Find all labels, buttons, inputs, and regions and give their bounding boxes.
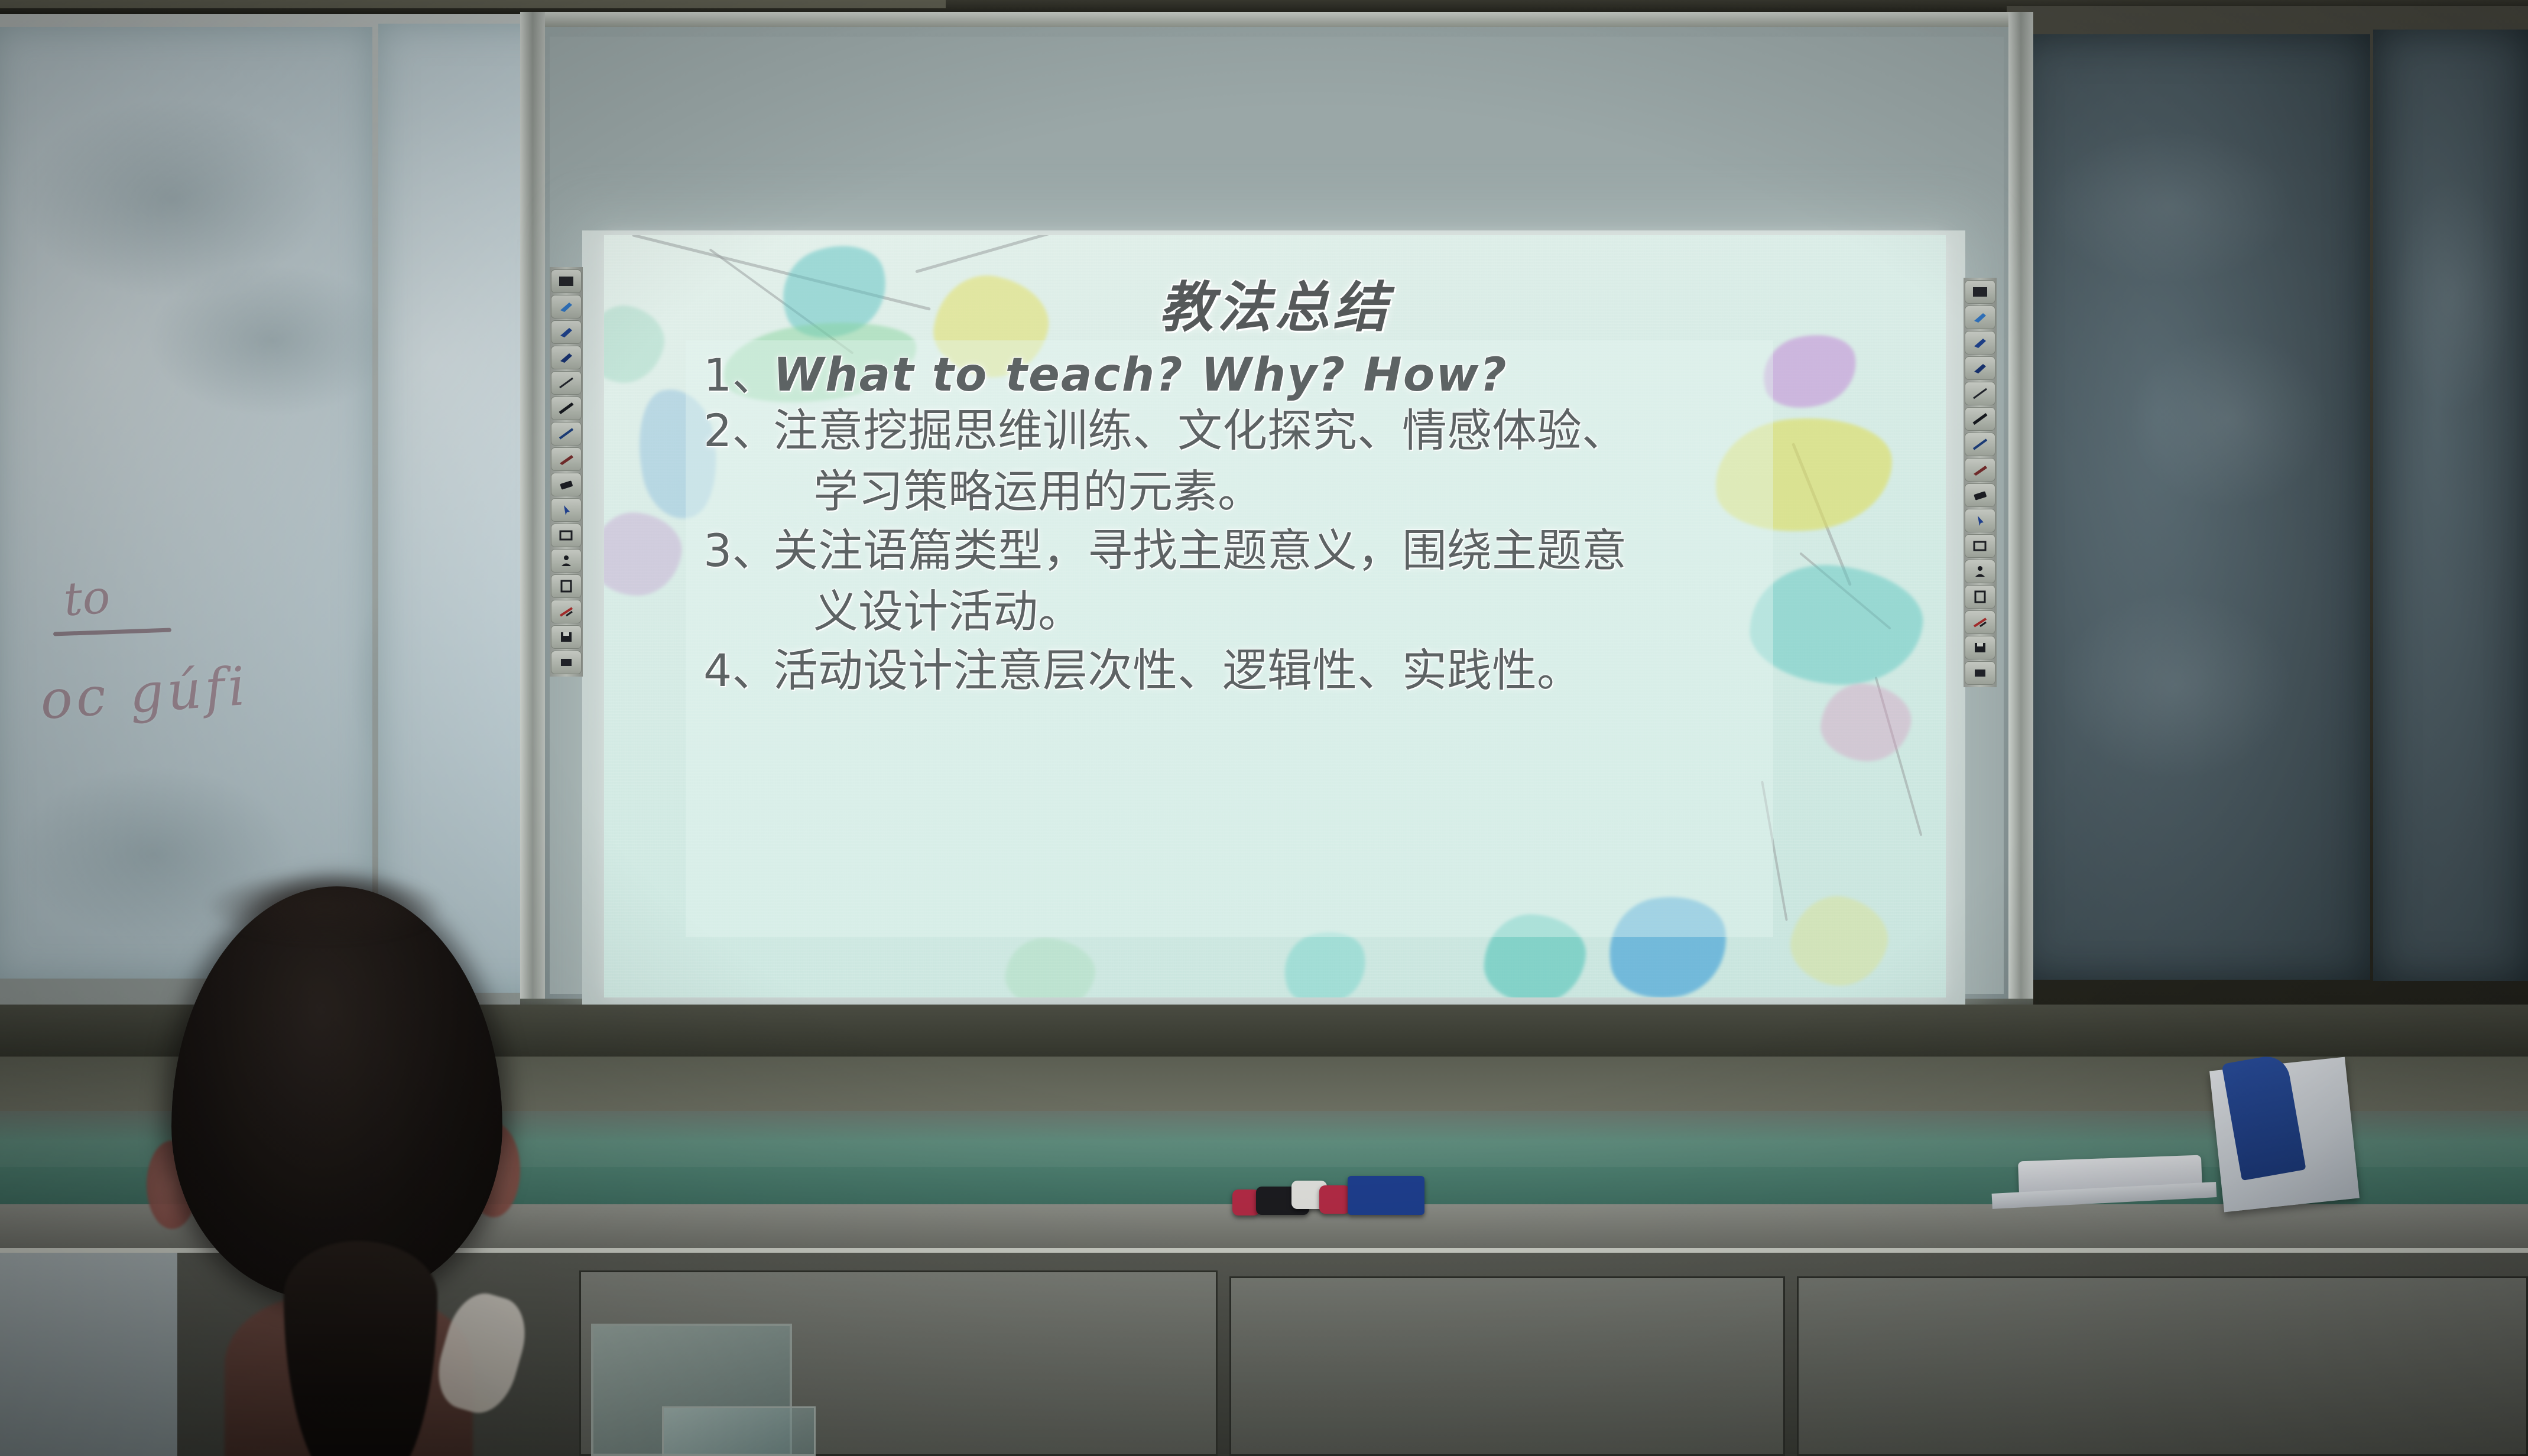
slide-bullet-2: 2、注意挖掘思维训练、文化探究、情感体验、 <box>703 408 1767 454</box>
iwb-left-eraser-icon[interactable] <box>551 473 582 496</box>
board-rail-right <box>2008 12 2033 1016</box>
slide-bullet-list: 1、What to teach? Why? How?2、注意挖掘思维训练、文化探… <box>703 352 1767 701</box>
slide-bullet-text-4: 活动设计注意层次性、逻辑性、实践性。 <box>773 648 1767 694</box>
iwb-right-brush-icon[interactable] <box>1965 458 1995 482</box>
teacher-podium-right[interactable] <box>1797 1276 2528 1456</box>
bb-smudge-1 <box>2128 331 2329 508</box>
iwb-toolbar-left[interactable] <box>550 267 583 677</box>
iwb-left-brush-icon[interactable] <box>551 447 582 471</box>
slide-bullet-4: 4、活动设计注意层次性、逻辑性、实践性。 <box>703 648 1767 694</box>
iwb-left-red-mark-icon[interactable] <box>551 600 582 623</box>
slide-bullet-continuation-3: 义设计活动。 <box>813 589 1767 635</box>
iwb-right-pen-blue-icon[interactable] <box>1965 305 1995 329</box>
blackboard-panel-b[interactable] <box>2373 30 2528 981</box>
whiteboard-underline <box>53 628 171 636</box>
hair-wisp <box>207 871 443 942</box>
presentation-slide: 教法总结 1、What to teach? Why? How?2、注意挖掘思维训… <box>604 235 1946 997</box>
iwb-right-line-thick-icon[interactable] <box>1965 407 1995 431</box>
iwb-left-stroke-icon[interactable] <box>551 422 582 446</box>
teacher-podium-center[interactable] <box>1229 1276 1785 1456</box>
slide-bullet-number-1: 1、 <box>703 352 773 398</box>
bb-smudge-2 <box>2057 591 2293 780</box>
eraser-blue[interactable] <box>1348 1176 1424 1215</box>
iwb-right-pointer-icon[interactable] <box>1965 509 1995 532</box>
iwb-right-save-icon[interactable] <box>1965 636 1995 659</box>
iwb-right-screen-icon[interactable] <box>1965 280 1995 304</box>
board-rail-top <box>520 12 2033 27</box>
iwb-right-person-icon[interactable] <box>1965 560 1995 583</box>
podium-glass-panel-2[interactable] <box>662 1406 816 1456</box>
iwb-left-line-thick-icon[interactable] <box>551 396 582 420</box>
marker-red-b[interactable] <box>1319 1185 1350 1214</box>
iwb-right-page-icon[interactable] <box>1965 585 1995 609</box>
iwb-right-menu-icon[interactable] <box>1965 661 1995 685</box>
iwb-left-person-icon[interactable] <box>551 549 582 573</box>
iwb-left-menu-icon[interactable] <box>551 651 582 674</box>
iwb-left-screen-icon[interactable] <box>551 269 582 293</box>
slide-title: 教法总结 <box>604 264 1946 342</box>
whiteboard-handwriting-line-1: to <box>62 570 112 626</box>
iwb-right-eraser-icon[interactable] <box>1965 483 1995 507</box>
board-rail-left <box>520 12 545 1016</box>
wall-top-highlight <box>0 0 946 8</box>
wb-smudge-1 <box>148 264 396 417</box>
slide-bullet-text-3: 关注语篇类型，寻找主题意义，围绕主题意 <box>773 528 1767 574</box>
bb-smudge-0 <box>2045 130 2293 284</box>
slide-bullet-number-4: 4、 <box>703 648 773 694</box>
iwb-left-pen-navy-icon[interactable] <box>551 320 582 344</box>
slide-bullet-text-2: 注意挖掘思维训练、文化探究、情感体验、 <box>773 408 1767 454</box>
slide-bullet-text-1: What to teach? Why? How? <box>773 352 1767 399</box>
slide-bullet-continuation-2: 学习策略运用的元素。 <box>813 469 1767 515</box>
slide-bullet-number-3: 3、 <box>703 528 773 574</box>
iwb-left-pointer-icon[interactable] <box>551 498 582 522</box>
iwb-left-square-icon[interactable] <box>551 524 582 547</box>
iwb-right-pen-navy-icon[interactable] <box>1965 331 1995 355</box>
whiteboard-handwriting-line-2: oc gúfi <box>38 655 251 732</box>
iwb-right-red-mark-icon[interactable] <box>1965 610 1995 634</box>
student-head-foreground <box>136 886 562 1456</box>
iwb-toolbar-right[interactable] <box>1964 278 1997 687</box>
slide-bullet-1: 1、What to teach? Why? How? <box>703 352 1767 399</box>
iwb-left-pen-blue-icon[interactable] <box>551 295 582 318</box>
iwb-left-pen-darkblue-icon[interactable] <box>551 346 582 369</box>
iwb-left-line-icon[interactable] <box>551 371 582 395</box>
classroom-scene: to oc gúfi 教法总结 1、What to teach? Why? Ho… <box>0 0 2528 1456</box>
bb-smudge-3 <box>2394 177 2512 414</box>
iwb-left-page-icon[interactable] <box>551 574 582 598</box>
iwb-right-stroke-icon[interactable] <box>1965 433 1995 456</box>
slide-bullet-3: 3、关注语篇类型，寻找主题意义，围绕主题意 <box>703 528 1767 574</box>
ponytail <box>284 1241 437 1456</box>
iwb-left-save-icon[interactable] <box>551 625 582 649</box>
iwb-right-line-icon[interactable] <box>1965 382 1995 405</box>
head <box>171 886 502 1300</box>
whiteboard-panel-a[interactable]: to oc gúfi <box>0 27 372 979</box>
slide-bullet-number-2: 2、 <box>703 408 773 454</box>
iwb-right-pen-darkblue-icon[interactable] <box>1965 356 1995 380</box>
iwb-right-square-icon[interactable] <box>1965 534 1995 558</box>
